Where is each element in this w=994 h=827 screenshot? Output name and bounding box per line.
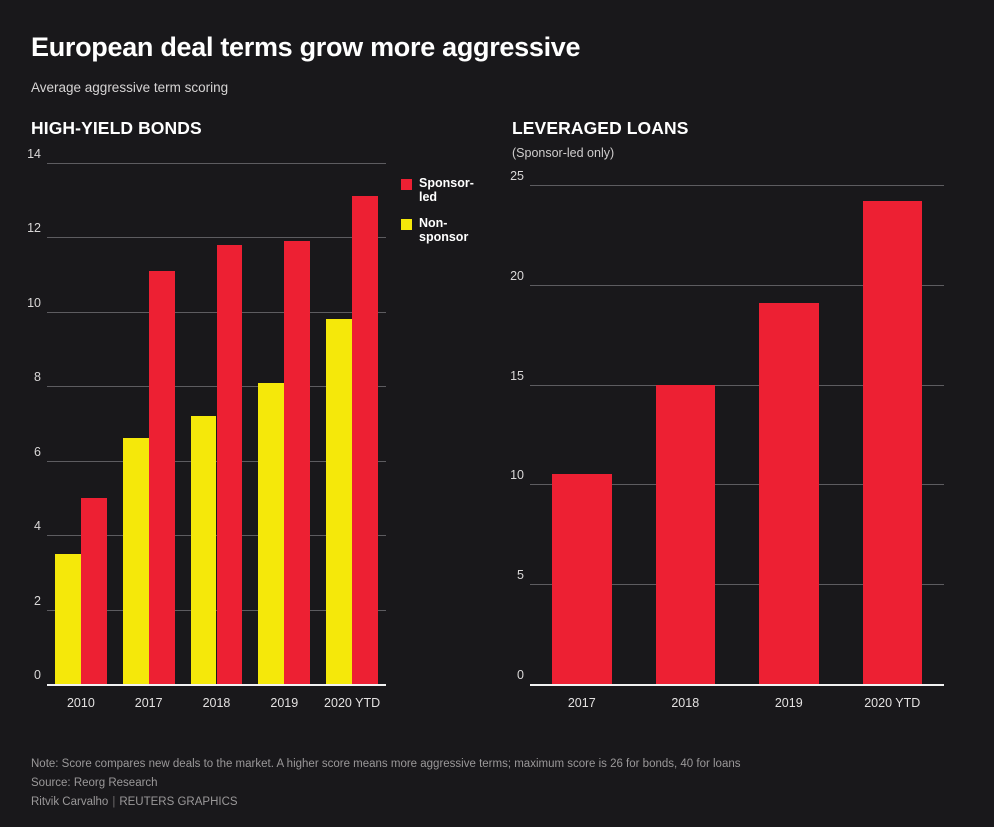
y-axis-tick-label: 0 <box>484 668 524 682</box>
left-edge-accent <box>0 0 6 827</box>
x-axis-tick-label: 2020 YTD <box>821 696 965 710</box>
gridline <box>47 237 386 238</box>
bar-non-sponsor-2018 <box>191 416 217 684</box>
y-axis-tick-label: 20 <box>484 269 524 283</box>
byline: Ritvik Carvalho|REUTERS GRAPHICS <box>31 793 741 812</box>
legend-item-label: Non-sponsor <box>419 216 479 244</box>
y-axis-tick-label: 10 <box>1 296 41 310</box>
infographic-page: European deal terms grow more aggressive… <box>0 0 994 827</box>
leveraged-loans-chart: 05101520252017201820192020 YTD <box>512 177 944 690</box>
bar-non-sponsor-2010 <box>55 554 81 684</box>
y-axis-tick-label: 12 <box>1 221 41 235</box>
gridline <box>47 163 386 164</box>
bar-non-sponsor-2017 <box>123 438 149 684</box>
bar-non-sponsor-2019 <box>258 383 284 684</box>
page-title: European deal terms grow more aggressive <box>31 32 580 63</box>
bar-sponsor-led-2020-ytd <box>352 196 378 684</box>
y-axis-tick-label: 8 <box>1 370 41 384</box>
legend-item-sponsor-led[interactable]: Sponsor-led <box>401 176 479 204</box>
bar-sponsor-led-2019 <box>759 303 819 684</box>
bar-sponsor-led-2017 <box>552 474 612 684</box>
high-yield-bonds-chart: 0246810121420102017201820192020 YTD <box>31 155 386 690</box>
y-axis-tick-label: 2 <box>1 594 41 608</box>
legend-item-non-sponsor[interactable]: Non-sponsor <box>401 216 479 244</box>
bar-sponsor-led-2018 <box>656 385 716 684</box>
axis-baseline <box>530 684 944 686</box>
axis-baseline <box>47 684 386 686</box>
y-axis-tick-label: 5 <box>484 568 524 582</box>
y-axis-tick-label: 0 <box>1 668 41 682</box>
y-axis-tick-label: 6 <box>1 445 41 459</box>
bar-sponsor-led-2017 <box>149 271 175 684</box>
legend-swatch-icon <box>401 179 412 190</box>
y-axis-tick-label: 14 <box>1 147 41 161</box>
chart-legend: Sponsor-ledNon-sponsor <box>401 176 479 256</box>
y-axis-tick-label: 10 <box>484 468 524 482</box>
byline-separator: | <box>108 796 119 808</box>
bar-sponsor-led-2018 <box>217 245 243 684</box>
right-chart-subtitle: (Sponsor-led only) <box>512 146 614 160</box>
byline-author: Ritvik Carvalho <box>31 796 108 808</box>
gridline <box>530 185 944 186</box>
bar-sponsor-led-2019 <box>284 241 310 684</box>
x-axis-tick-label: 2020 YTD <box>298 696 406 710</box>
footer-source: Source: Reorg Research <box>31 774 741 793</box>
y-axis-tick-label: 15 <box>484 369 524 383</box>
byline-organisation: REUTERS GRAPHICS <box>119 796 237 808</box>
footer-note: Note: Score compares new deals to the ma… <box>31 755 741 774</box>
legend-item-label: Sponsor-led <box>419 176 479 204</box>
legend-swatch-icon <box>401 219 412 230</box>
bar-sponsor-led-2020-ytd <box>863 201 923 684</box>
right-chart-title: LEVERAGED LOANS <box>512 118 689 139</box>
left-chart-title: HIGH-YIELD BONDS <box>31 118 202 139</box>
y-axis-tick-label: 25 <box>484 169 524 183</box>
y-axis-tick-label: 4 <box>1 519 41 533</box>
bar-non-sponsor-2020-ytd <box>326 319 352 684</box>
bar-sponsor-led-2010 <box>81 498 107 684</box>
page-subtitle: Average aggressive term scoring <box>31 80 228 95</box>
footer: Note: Score compares new deals to the ma… <box>31 755 741 812</box>
